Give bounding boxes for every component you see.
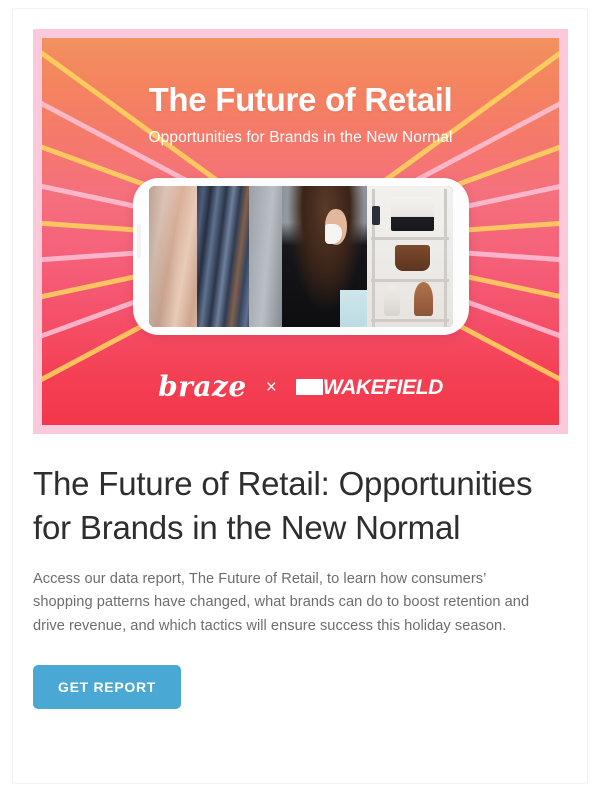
logo-separator-icon: × [266, 378, 277, 397]
wakefield-logo: WAKEFIELD [296, 377, 443, 398]
retail-photo [149, 186, 453, 327]
promo-card: The Future of Retail Opportunities for B… [0, 0, 600, 792]
display-stand [414, 282, 433, 316]
price-tag-icon [372, 206, 380, 226]
phone-mockup [133, 178, 469, 335]
hero-banner[interactable]: The Future of Retail Opportunities for B… [33, 29, 568, 434]
get-report-button[interactable]: GET REPORT [33, 665, 181, 709]
tote-bag-product [391, 197, 434, 231]
content-block: The Future of Retail: Opportunities for … [33, 462, 553, 709]
shelf-bar [371, 237, 449, 240]
page-title: The Future of Retail: Opportunities for … [33, 462, 553, 550]
wakefield-logo-text: WAKEFIELD [323, 377, 443, 398]
clothing-rack [149, 186, 249, 327]
display-stand [384, 285, 399, 316]
purse-product [395, 245, 431, 270]
description-text: Access our data report, The Future of Re… [33, 568, 545, 639]
hero-subtitle: Opportunities for Brands in the New Norm… [42, 129, 559, 147]
shelf-bar [371, 279, 449, 282]
braze-logo: braze [158, 373, 247, 401]
display-shelving [367, 186, 452, 327]
shelf-bar [371, 319, 449, 322]
logo-lockup: braze × WAKEFIELD [42, 373, 559, 401]
shelf-post [444, 189, 447, 327]
hero-title: The Future of Retail [42, 82, 559, 118]
wakefield-mark-icon [296, 379, 323, 395]
hero-gradient: The Future of Retail Opportunities for B… [42, 38, 559, 425]
